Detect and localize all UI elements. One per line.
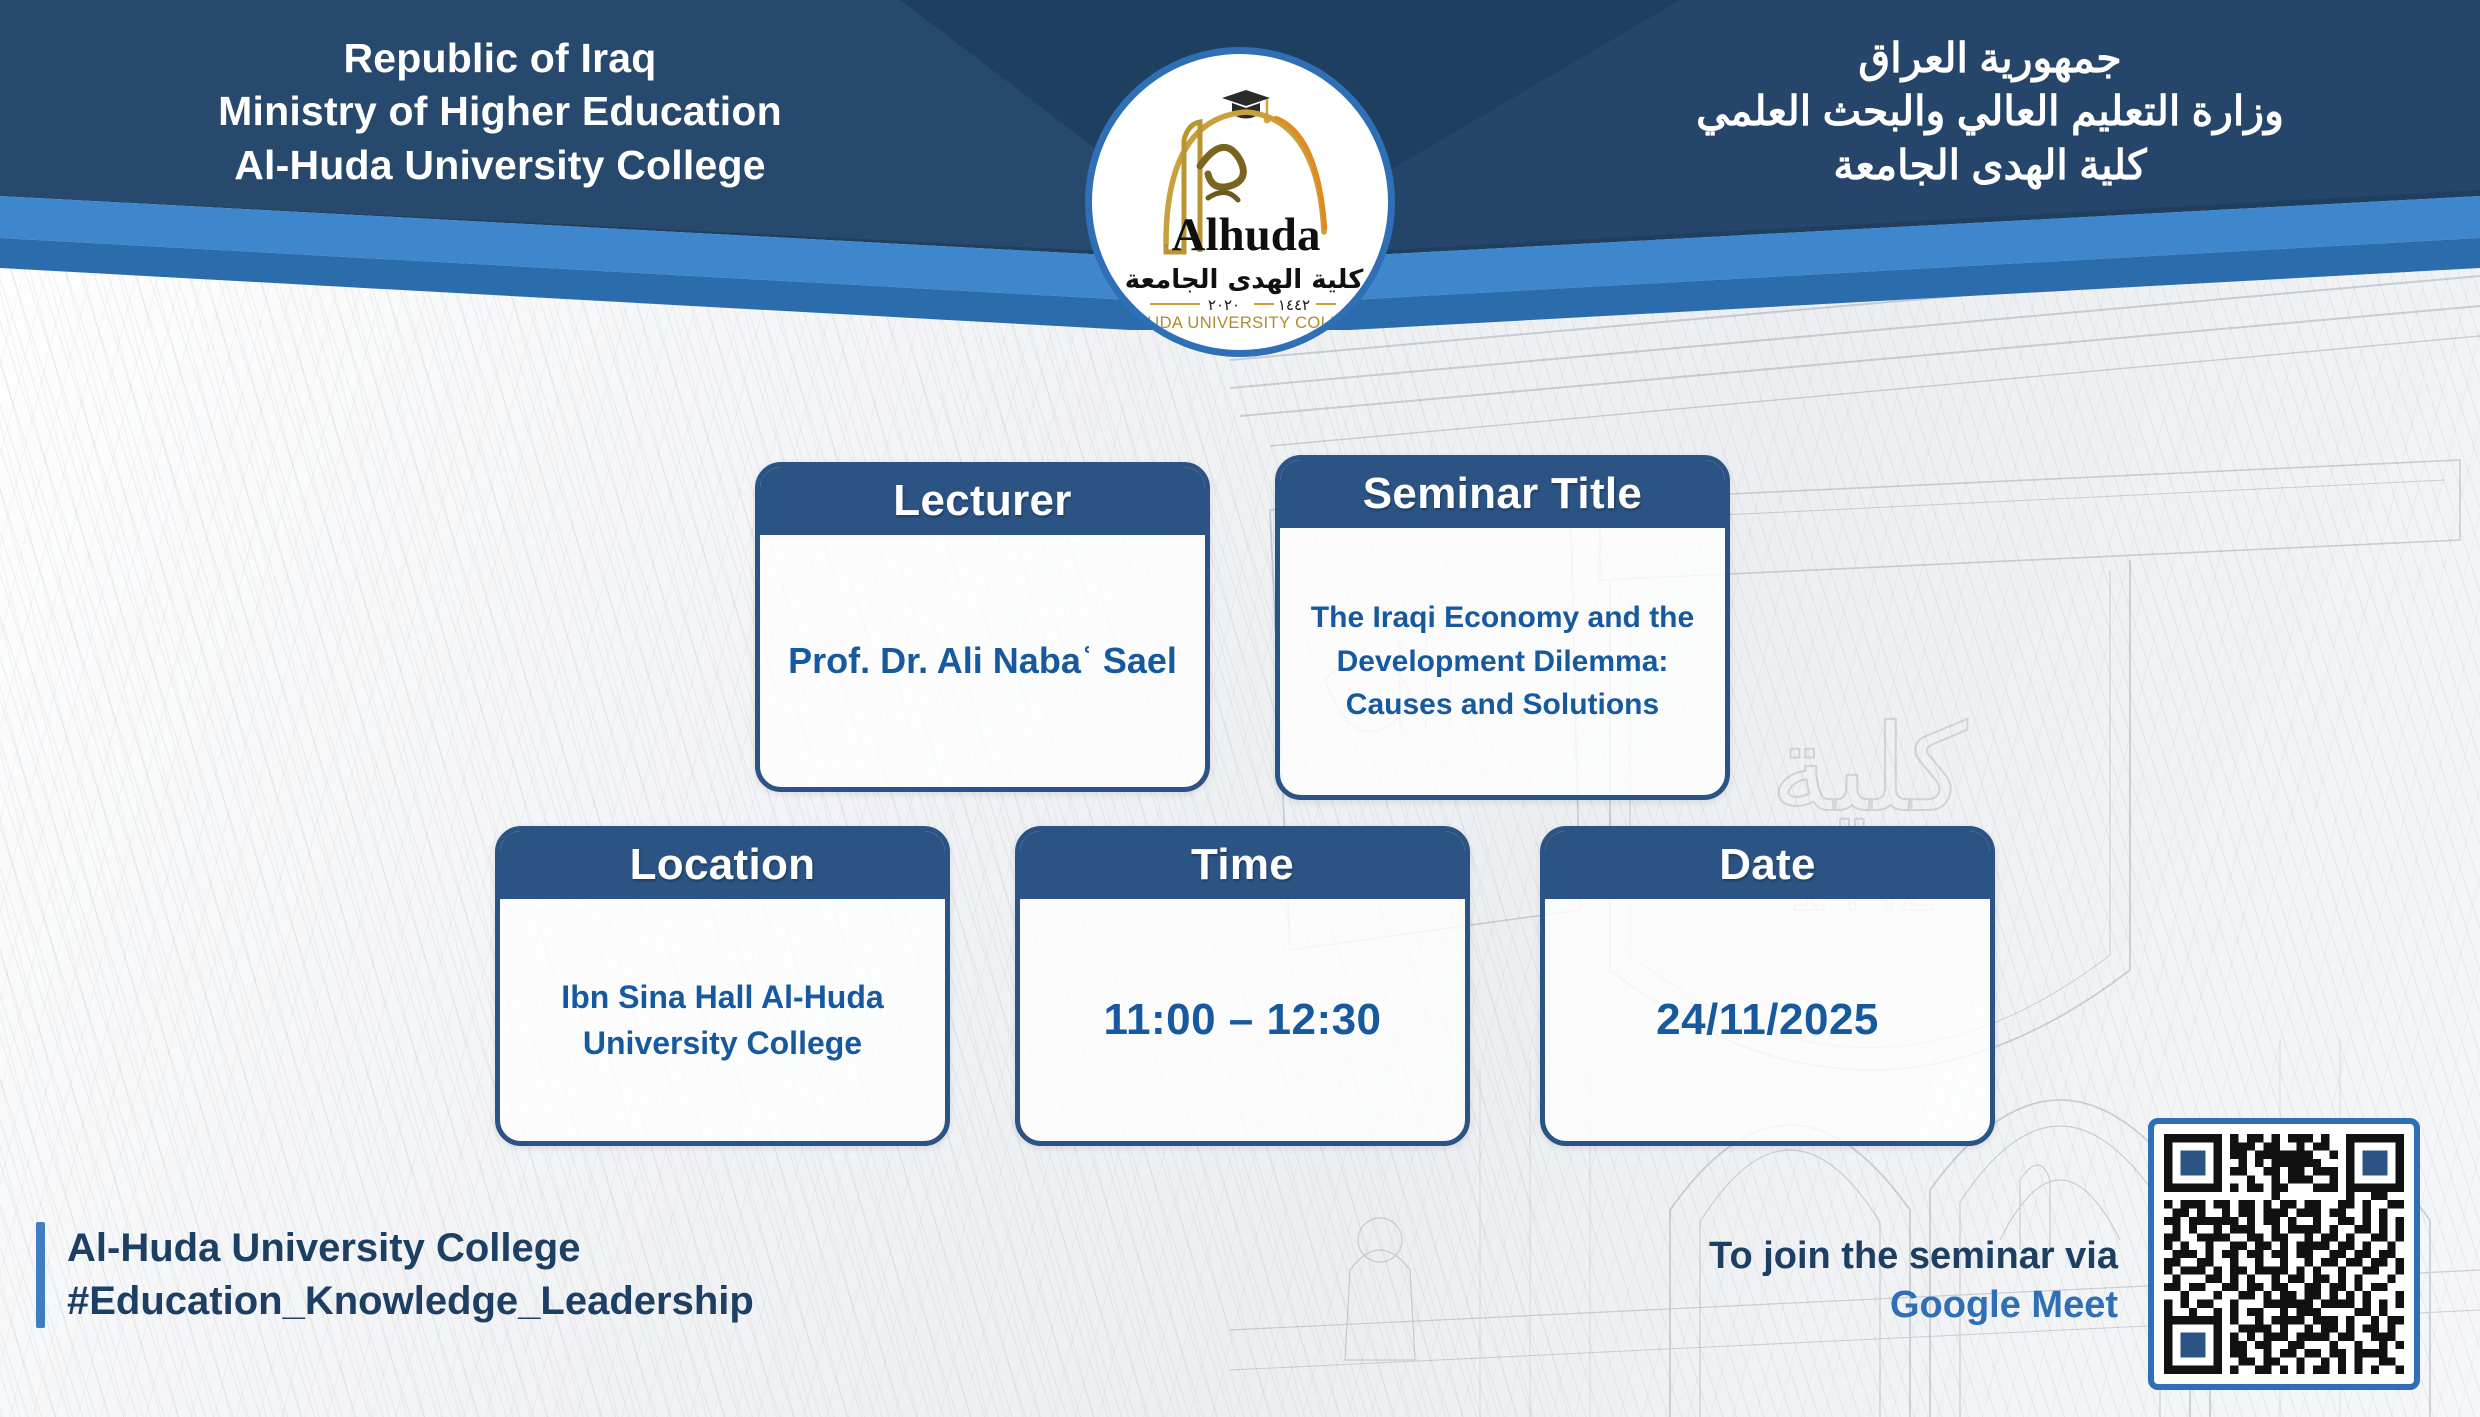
- card-lecturer: Lecturer Prof. Dr. Ali Nabaʿ Sael: [755, 462, 1210, 792]
- header-right-line-2: وزارة التعليم العالي والبحث العلمي: [1610, 85, 2370, 138]
- card-seminar-title: Seminar Title The Iraqi Economy and the …: [1275, 455, 1730, 800]
- join-seminar-text: To join the seminar via Google Meet: [1598, 1232, 2118, 1329]
- card-date: Date 24/11/2025: [1540, 826, 1995, 1146]
- card-lecturer-title: Lecturer: [760, 467, 1205, 535]
- footer-college-name: Al-Huda University College: [67, 1222, 754, 1275]
- header-right-line-1: جمهورية العراق: [1610, 32, 2370, 85]
- footer-left: Al-Huda University College #Education_Kn…: [36, 1222, 754, 1328]
- qr-code[interactable]: [2148, 1118, 2420, 1390]
- card-location: Location Ibn Sina Hall Al-Huda Universit…: [495, 826, 950, 1146]
- logo-wordmark: Alhuda: [1172, 209, 1321, 261]
- card-lecturer-value: Prof. Dr. Ali Nabaʿ Sael: [760, 535, 1205, 787]
- card-date-title: Date: [1545, 831, 1990, 899]
- header-left-line-1: Republic of Iraq: [120, 32, 880, 85]
- card-location-title: Location: [500, 831, 945, 899]
- card-time: Time 11:00 – 12:30: [1015, 826, 1470, 1146]
- graduation-cap-icon: [1222, 90, 1270, 123]
- card-time-value: 11:00 – 12:30: [1020, 899, 1465, 1141]
- header-right-text-arabic: جمهورية العراق وزارة التعليم العالي والب…: [1610, 32, 2370, 192]
- header-left-line-2: Ministry of Higher Education: [120, 85, 880, 138]
- header-right-line-3: كلية الهدى الجامعة: [1610, 139, 2370, 192]
- footer-hashtag: #Education_Knowledge_Leadership: [67, 1275, 754, 1328]
- card-time-title: Time: [1020, 831, 1465, 899]
- logo-year-hijri: ١٤٤٢: [1278, 296, 1310, 314]
- card-seminar-value: The Iraqi Economy and the Development Di…: [1280, 528, 1725, 795]
- header-left-line-3: Al-Huda University College: [120, 139, 880, 192]
- logo-arabic-name: كلية الهدى الجامعة: [1125, 265, 1365, 295]
- university-logo: Alhuda كلية الهدى الجامعة ٢٠٢٠ ١٤٤٢ AL-H…: [1085, 47, 1395, 357]
- card-seminar-heading: Seminar Title: [1280, 460, 1725, 528]
- svg-text:كلية: كلية: [1770, 702, 1968, 836]
- join-seminar-line-1: To join the seminar via: [1598, 1232, 2118, 1281]
- card-date-value: 24/11/2025: [1545, 899, 1990, 1141]
- join-seminar-line-2: Google Meet: [1598, 1281, 2118, 1330]
- card-location-value: Ibn Sina Hall Al-Huda University College: [500, 899, 945, 1141]
- footer-accent-bar: [36, 1222, 45, 1328]
- logo-year-gregorian: ٢٠٢٠: [1208, 296, 1240, 314]
- seminar-poster: ٢٠٢٠ كلية 1442: [0, 0, 2480, 1417]
- header-left-text: Republic of Iraq Ministry of Higher Educ…: [120, 32, 880, 192]
